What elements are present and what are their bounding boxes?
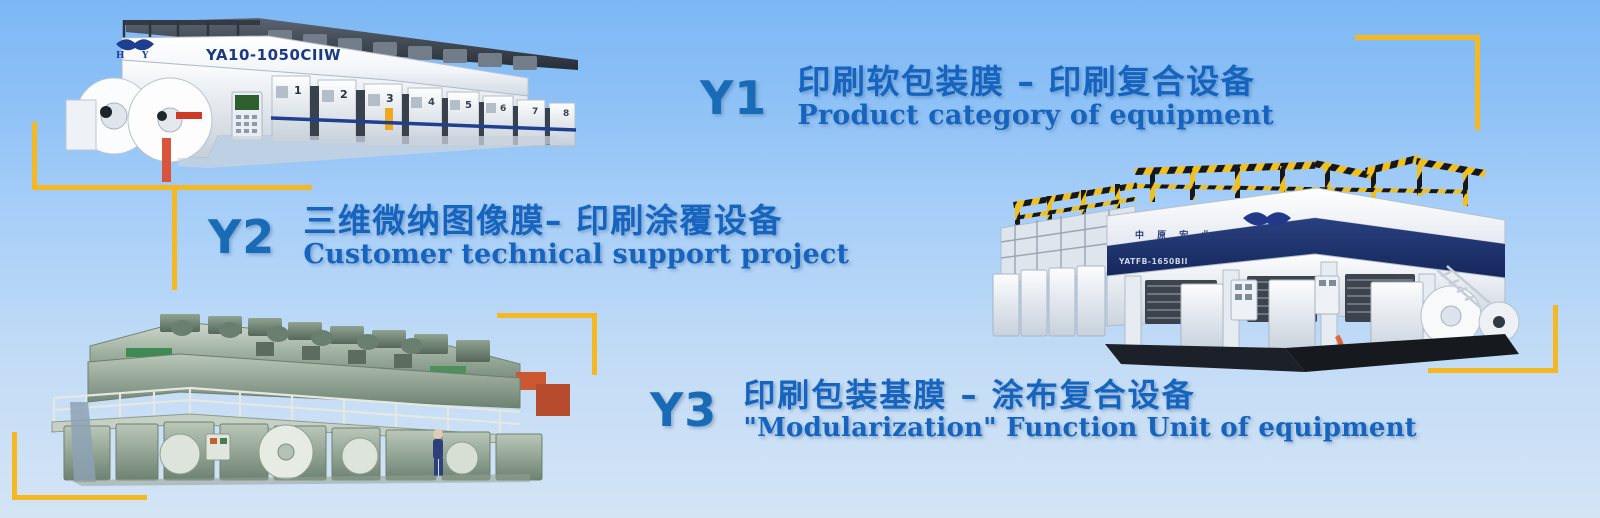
equipment-banner: YA10-1050CIIW H Y [0,0,1600,518]
photo-coating-line [30,306,575,486]
laminator-model-text: YATFB-1650BII [1118,257,1188,266]
svg-text:5: 5 [465,100,472,111]
svg-text:7: 7 [532,107,538,117]
entry-y2: Y2 三维微纳图像膜– 印刷涂覆设备 Customer technical su… [208,203,849,270]
bracket-top-right [1355,35,1480,130]
svg-text:6: 6 [500,104,506,114]
photo-coating-laminator: 中 原 宏 业 YATFB-1650BII [985,158,1525,373]
entry-y3: Y3 印刷包装基膜 – 涂布复合设备 "Modularization" Func… [650,378,1417,443]
svg-text:1: 1 [294,84,302,97]
entry-y3-title-en: "Modularization" Function Unit of equipm… [743,414,1417,443]
entry-y3-title-cn: 印刷包装基膜 – 涂布复合设备 [743,378,1417,414]
svg-text:H: H [116,51,125,61]
svg-text:中 原 宏 业: 中 原 宏 业 [1135,229,1215,241]
worker-figure [433,429,443,476]
svg-text:2: 2 [340,88,348,101]
entry-y2-title-cn: 三维微纳图像膜– 印刷涂覆设备 [303,203,849,240]
photo-gravure-press: YA10-1050CIIW H Y [58,8,603,183]
entry-y1-code: Y1 [700,75,767,121]
press-model-text: YA10-1050CIIW [205,46,341,64]
entry-y2-code: Y2 [208,214,275,260]
svg-text:3: 3 [386,92,394,105]
entry-y3-code: Y3 [650,387,717,433]
press-control-panel [232,92,262,140]
entry-y1-title-en: Product category of equipment [797,101,1274,131]
entry-y2-title-en: Customer technical support project [303,240,849,270]
svg-text:8: 8 [563,109,569,119]
entry-y1-title-cn: 印刷软包装膜 – 印刷复合设备 [797,64,1274,101]
svg-text:4: 4 [428,97,435,108]
entry-y1: Y1 印刷软包装膜 – 印刷复合设备 Product category of e… [700,64,1274,131]
svg-text:Y: Y [141,51,149,61]
